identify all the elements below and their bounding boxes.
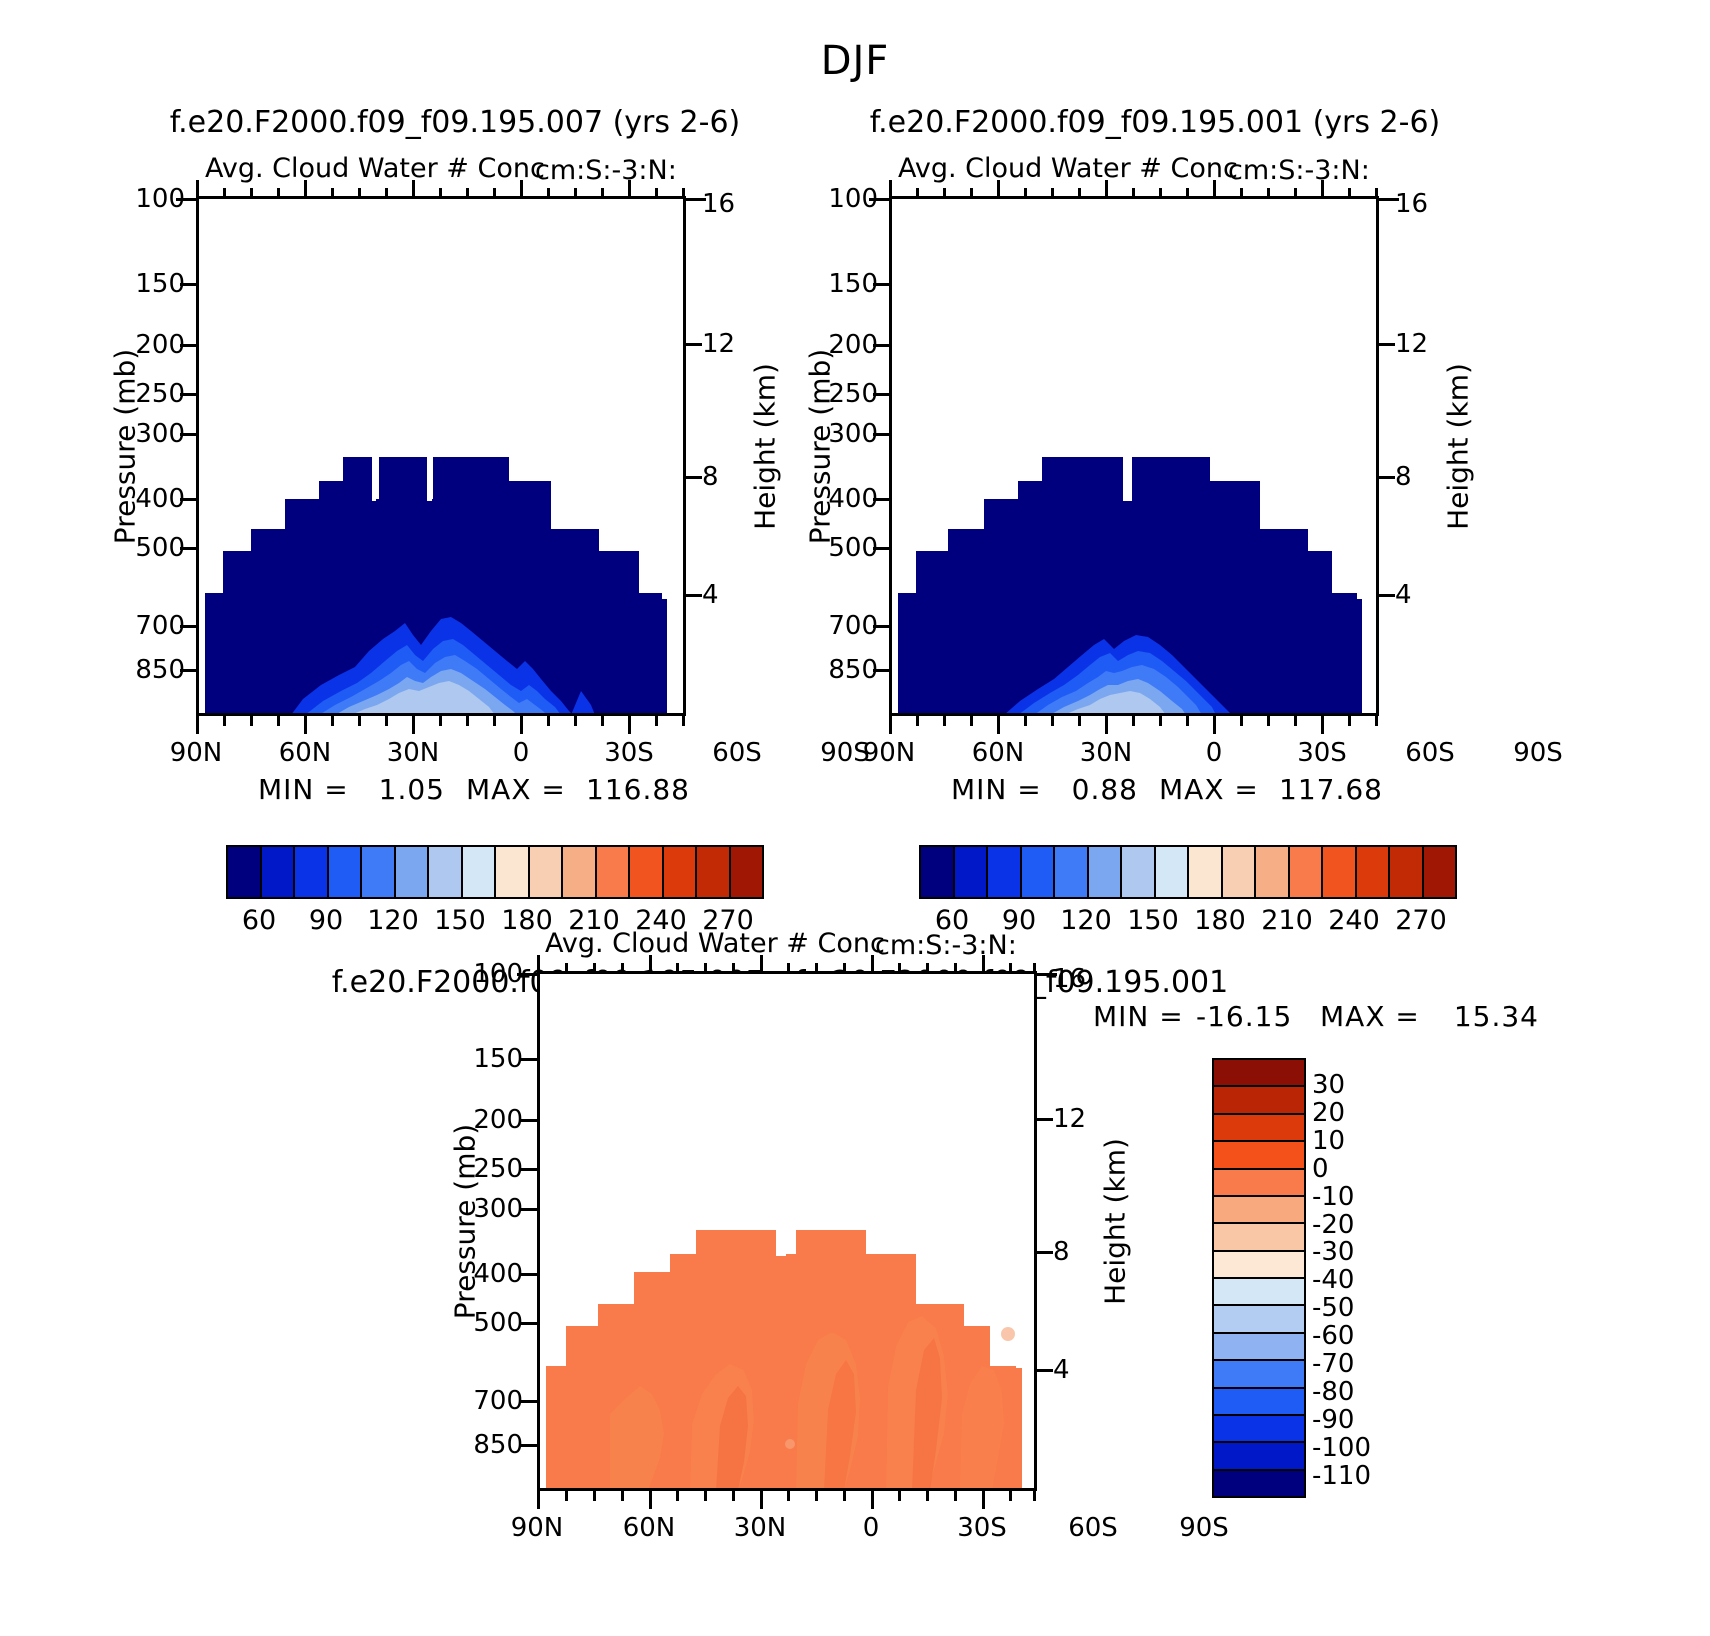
colorbar-swatch-0	[228, 847, 262, 897]
panel-bottom-diff-xtick-top-m4	[676, 963, 679, 973]
panel-top-left-xtick-90N: 90N	[156, 738, 236, 768]
panel-bottom-diff-y2tick-mark-16	[1037, 973, 1057, 976]
panel-top-left-ytick-400: 400	[105, 484, 185, 514]
panel-top-left-plot-area	[196, 196, 686, 716]
panel-top-right-y2tick-12: 12	[1395, 329, 1428, 359]
vcbtick-m10: -10	[1312, 1182, 1354, 1212]
panel-bottom-diff-xtick-top-m9	[843, 963, 846, 973]
cbtick-r-150: 150	[1127, 905, 1179, 936]
panel-top-left-ytick-300: 300	[105, 419, 185, 449]
panel-top-right-xtick-top-1	[997, 180, 1000, 198]
panel-top-left-min-label: MIN =	[258, 773, 349, 806]
panel-bottom-diff-y2tick-8: 8	[1053, 1237, 1070, 1267]
panel-top-left-xtick-top-m13	[655, 188, 658, 198]
panel-top-right-y2tick-16: 16	[1395, 189, 1428, 219]
panel-top-right-max-value: 117.68	[1263, 773, 1383, 806]
panel-top-right-xtick-30S: 30S	[1282, 738, 1362, 768]
panel-top-right-xtick-top-m7	[1132, 188, 1135, 198]
panel-bottom-diff-xtick-bot-m13	[1009, 1491, 1012, 1501]
panel-top-left-xtick-0: 0	[481, 738, 561, 768]
panel-top-left-xtick-bot-m6	[385, 716, 388, 726]
panel-top-left-max-label: MAX =	[466, 773, 566, 806]
panel-top-right-xtick-90N: 90N	[849, 738, 929, 768]
panel-bottom-diff-xtick-bot-m10	[898, 1491, 901, 1501]
panel-top-left-xtick-bot-m14	[682, 716, 685, 726]
cbtick-120: 120	[367, 905, 419, 936]
panel-top-left-ytick-500: 500	[105, 533, 185, 563]
panel-bottom-diff-xtick-top-m2	[593, 963, 596, 973]
panel-bottom-diff-xtick-bot-m3	[621, 1491, 624, 1501]
panel-top-right-ytick-mark-200	[873, 344, 889, 347]
panel-top-right-y2tick-mark-12	[1379, 343, 1395, 346]
panel-bottom-diff-colorbar-ticks: 30 20 10 0 -10 -20 -30 -40 -50 -60 -70 -…	[1312, 1058, 1432, 1494]
panel-top-left-xtick-top-m4	[331, 188, 334, 198]
panel-bottom-diff-y2tick-mark-4	[1037, 1369, 1053, 1372]
panel-top-left-xtick-bot-1	[304, 716, 307, 734]
panel-top-left-xtick-bot-m3	[277, 716, 280, 726]
colorbar-swatch-15	[1424, 847, 1456, 897]
panel-top-left-xtick-bot-m8	[466, 716, 469, 726]
panel-top-right-xtick-top-m10	[1240, 188, 1243, 198]
vcbtick-m30: -30	[1312, 1237, 1354, 1267]
panel-top-left-ytick-100: 100	[105, 184, 185, 214]
panel-top-left-y2tick-4: 4	[702, 580, 719, 610]
panel-bottom-diff-xtick-bot-m9	[843, 1491, 846, 1501]
panel-top-right-min-label: MIN =	[951, 773, 1042, 806]
diff-colorbar-swatch-7	[1214, 1252, 1304, 1279]
panel-top-left-xtick-60S: 60S	[697, 738, 777, 768]
panel-top-right-ytick-mark-250	[873, 393, 889, 396]
panel-top-right-xtick-bot-m8	[1159, 716, 1162, 726]
panel-bottom-diff-ytick-200: 200	[443, 1105, 523, 1135]
panel-top-left-xtick-bot-m7	[439, 716, 442, 726]
vcbtick-m20: -20	[1312, 1210, 1354, 1240]
colorbar-swatch-3	[1022, 847, 1056, 897]
panel-bottom-diff-xtick-top-0	[537, 955, 540, 973]
panel-top-right-xtick-90S: 90S	[1498, 738, 1578, 768]
colorbar-swatch-8	[1189, 847, 1223, 897]
panel-top-left-ytick-mark-500	[180, 547, 196, 550]
panel-bottom-diff-ytick-700: 700	[443, 1386, 523, 1416]
panel-top-right-xtick-60N: 60N	[958, 738, 1038, 768]
colorbar-swatch-14	[697, 847, 731, 897]
panel-top-right-y2tick-mark-4	[1379, 594, 1395, 597]
panel-bottom-diff-contour	[540, 974, 1036, 1490]
panel-bottom-diff-ytick-400: 400	[443, 1259, 523, 1289]
colorbar-swatch-4	[1055, 847, 1089, 897]
panel-bottom-diff-ytick-mark-700	[521, 1400, 537, 1403]
vcbtick-30: 30	[1312, 1070, 1345, 1100]
colorbar-swatch-0	[921, 847, 955, 897]
colorbar-swatch-12	[630, 847, 664, 897]
colorbar-swatch-6	[429, 847, 463, 897]
panel-top-left-xtick-30S: 30S	[589, 738, 669, 768]
panel-top-right-xtick-top-m4	[1024, 188, 1027, 198]
cbtick-r-210: 210	[1261, 905, 1313, 936]
panel-top-left-xtick-top-m12	[601, 188, 604, 198]
cbtick-r-120: 120	[1060, 905, 1112, 936]
panel-bottom-diff-ytick-500: 500	[443, 1308, 523, 1338]
colorbar-swatch-2	[295, 847, 329, 897]
panel-top-right-xtick-bot-m7	[1132, 716, 1135, 726]
diff-colorbar-swatch-9	[1214, 1306, 1304, 1333]
cbtick-r-240: 240	[1328, 905, 1380, 936]
panel-top-left-xtick-top-3	[520, 180, 523, 198]
panel-top-left-xtick-top-0	[196, 180, 199, 198]
diff-colorbar-swatch-14	[1214, 1443, 1304, 1470]
panel-top-right-ytick-mark-850	[873, 669, 889, 672]
panel-bottom-diff-xtick-bot-4	[982, 1491, 985, 1509]
diff-colorbar-swatch-13	[1214, 1416, 1304, 1443]
vcbtick-m110: -110	[1312, 1461, 1371, 1491]
panel-top-right-xtick-top-m6	[1078, 188, 1081, 198]
panel-top-right-ytick-850: 850	[798, 655, 878, 685]
colorbar-swatch-2	[988, 847, 1022, 897]
colorbar-swatch-9	[1223, 847, 1257, 897]
panel-top-right-xtick-bot-m11	[1267, 716, 1270, 726]
diff-colorbar-swatch-11	[1214, 1361, 1304, 1388]
panel-bottom-diff-units-overlay: cm:S:-3:N:	[875, 930, 1017, 961]
panel-top-right-ytick-400: 400	[798, 484, 878, 514]
panel-bottom-diff-xtick-90S: 90S	[1164, 1513, 1244, 1543]
diff-colorbar-swatch-15	[1214, 1471, 1304, 1496]
colorbar-swatch-13	[664, 847, 698, 897]
cbtick-60: 60	[242, 905, 276, 936]
panel-top-left-xtick-top-m8	[466, 188, 469, 198]
panel-bottom-diff-plot-area	[537, 971, 1037, 1491]
diff-colorbar-swatch-6	[1214, 1224, 1304, 1251]
colorbar-swatch-5	[396, 847, 430, 897]
panel-top-left-y2tick-8: 8	[702, 462, 719, 492]
panel-top-left-ytick-mark-150	[180, 283, 196, 286]
panel-top-right-case-title: f.e20.F2000.f09_f09.195.001 (yrs 2-6)	[745, 105, 1565, 140]
panel-bottom-diff-ytick-300: 300	[443, 1194, 523, 1224]
panel-top-right-xtick-top-m11	[1267, 188, 1270, 198]
panel-top-left-xtick-bot-m1	[223, 716, 226, 726]
panel-top-left-xtick-30N: 30N	[373, 738, 453, 768]
panel-bottom-diff-min-value: -16.15	[1196, 1000, 1292, 1033]
panel-top-left-ytick-mark-200	[180, 344, 196, 347]
panel-top-left-xtick-bot-m4	[331, 716, 334, 726]
panel-top-right-xtick-bot-m12	[1294, 716, 1297, 726]
panel-top-right-ytick-100: 100	[798, 184, 878, 214]
panel-bottom-diff-xtick-top-1	[649, 955, 652, 973]
panel-top-right-plot-area	[889, 196, 1379, 716]
panel-bottom-diff-y2axis-label: Height (km)	[1099, 1092, 1132, 1352]
panel-top-right-ytick-mark-100	[869, 198, 889, 201]
diff-colorbar-swatch-3	[1214, 1142, 1304, 1169]
colorbar-swatch-11	[597, 847, 631, 897]
panel-top-left-y2tick-16: 16	[702, 189, 735, 219]
panel-bottom-diff-xtick-bot-m14	[1033, 1491, 1036, 1501]
panel-top-right-ytick-200: 200	[798, 330, 878, 360]
panel-top-left-xtick-top-m3	[277, 188, 280, 198]
panel-bottom-diff-colorbar[interactable]	[1212, 1058, 1306, 1498]
panel-bottom-diff-max-value: 15.34	[1424, 1000, 1539, 1033]
colorbar-swatch-1	[955, 847, 989, 897]
panel-bottom-diff-xtick-bot-m6	[732, 1491, 735, 1501]
panel-top-left-xtick-top-m10	[547, 188, 550, 198]
panel-top-right-y2tick-4: 4	[1395, 580, 1412, 610]
colorbar-swatch-9	[530, 847, 564, 897]
panel-bottom-diff-xtick-top-m13	[1009, 963, 1012, 973]
panel-top-right-xtick-0: 0	[1174, 738, 1254, 768]
colorbar-swatch-4	[362, 847, 396, 897]
panel-bottom-diff-xtick-bot-m8	[815, 1491, 818, 1501]
cbtick-r-180: 180	[1194, 905, 1246, 936]
panel-top-right-xtick-top-4	[1321, 180, 1324, 198]
panel-bottom-diff-ytick-mark-500	[521, 1322, 537, 1325]
colorbar-swatch-7	[1156, 847, 1190, 897]
panel-top-right-y2tick-mark-8	[1379, 476, 1395, 479]
diff-colorbar-swatch-5	[1214, 1197, 1304, 1224]
panel-top-left-xtick-top-m1	[223, 188, 226, 198]
panel-top-left-y2tick-mark-8	[686, 476, 702, 479]
panel-bottom-diff-y2tick-16: 16	[1053, 964, 1086, 994]
panel-top-right-xtick-top-m3	[970, 188, 973, 198]
panel-top-right-xtick-bot-m5	[1051, 716, 1054, 726]
panel-bottom-diff-xtick-top-m3	[621, 963, 624, 973]
panel-bottom-diff-xtick-top-m11	[926, 963, 929, 973]
panel-top-left-xtick-top-1	[304, 180, 307, 198]
panel-bottom-diff-xtick-60S: 60S	[1053, 1513, 1133, 1543]
panel-bottom-diff-ytick-mark-300	[521, 1208, 537, 1211]
colorbar-swatch-3	[329, 847, 363, 897]
panel-top-left-ytick-mark-300	[180, 433, 196, 436]
panel-bottom-diff-xtick-30S: 30S	[942, 1513, 1022, 1543]
panel-top-right-max-label: MAX =	[1159, 773, 1259, 806]
panel-top-right-xtick-top-m2	[943, 188, 946, 198]
diff-colorbar-swatch-0	[1214, 1060, 1304, 1087]
diff-colorbar-swatch-8	[1214, 1279, 1304, 1306]
panel-top-right-xtick-top-m9	[1186, 188, 1189, 198]
panel-bottom-diff-xtick-bot-m12	[954, 1491, 957, 1501]
colorbar-swatch-12	[1323, 847, 1357, 897]
panel-bottom-diff-xtick-90N: 90N	[497, 1513, 577, 1543]
panel-bottom-diff-ytick-850: 850	[443, 1430, 523, 1460]
panel-top-right-xtick-bot-1	[997, 716, 1000, 734]
panel-bottom-diff-ytick-mark-200	[521, 1119, 537, 1122]
panel-bottom-diff-xtick-bot-m5	[704, 1491, 707, 1501]
panel-top-left-contour	[199, 199, 685, 715]
panel-top-left-xtick-top-m5	[358, 188, 361, 198]
panel-top-right-xtick-top-2	[1105, 180, 1108, 198]
panel-bottom-diff-xtick-bot-m7	[787, 1491, 790, 1501]
diff-colorbar-swatch-1	[1214, 1087, 1304, 1114]
panel-top-right-xtick-bot-0	[889, 716, 892, 734]
panel-top-left-xtick-bot-0	[196, 716, 199, 734]
panel-top-right-xtick-bot-m13	[1348, 716, 1351, 726]
diff-colorbar-swatch-10	[1214, 1334, 1304, 1361]
panel-top-right-min-value: 0.88	[1048, 773, 1138, 806]
panel-top-right-y2axis-label: Height (km)	[1442, 317, 1475, 577]
panel-top-right-ytick-mark-500	[873, 547, 889, 550]
panel-top-left-xtick-bot-2	[412, 716, 415, 734]
vcbtick-m80: -80	[1312, 1377, 1354, 1407]
panel-top-right-xtick-top-m1	[916, 188, 919, 198]
panel-top-left-xtick-top-m2	[250, 188, 253, 198]
vcbtick-0: 0	[1312, 1154, 1329, 1184]
panel-top-right-contour	[892, 199, 1378, 715]
panel-top-right-xtick-bot-m4	[1024, 716, 1027, 726]
panel-top-right-ytick-mark-150	[873, 283, 889, 286]
panel-bottom-diff-ytick-mark-850	[521, 1444, 537, 1447]
panel-top-right-xtick-30N: 30N	[1066, 738, 1146, 768]
diff-colorbar-swatch-12	[1214, 1389, 1304, 1416]
panel-top-left-ytick-mark-850	[180, 669, 196, 672]
colorbar-swatch-5	[1089, 847, 1123, 897]
panel-bottom-diff-subtitle: Avg. Cloud Water # Conc	[545, 928, 885, 959]
panel-bottom-diff-y2tick-mark-8	[1037, 1251, 1053, 1254]
panel-top-right-ytick-300: 300	[798, 419, 878, 449]
panel-bottom-diff-y2tick-mark-12	[1037, 1118, 1053, 1121]
panel-bottom-diff-max-label: MAX =	[1320, 1000, 1420, 1033]
vcbtick-m40: -40	[1312, 1265, 1354, 1295]
panel-top-left-y2tick-mark-4	[686, 594, 702, 597]
panel-top-left-max-value: 116.88	[570, 773, 690, 806]
colorbar-swatch-10	[1256, 847, 1290, 897]
panel-top-left-case-title: f.e20.F2000.f09_f09.195.007 (yrs 2-6)	[45, 105, 865, 140]
panel-bottom-diff-xtick-bot-1	[649, 1491, 652, 1509]
colorbar-swatch-6	[1122, 847, 1156, 897]
panel-top-right-xtick-bot-m3	[970, 716, 973, 726]
panel-top-left-xtick-top-2	[412, 180, 415, 198]
panel-top-left-y2tick-mark-16	[686, 198, 706, 201]
vcbtick-m60: -60	[1312, 1321, 1354, 1351]
panel-top-left-xtick-top-m6	[385, 188, 388, 198]
panel-top-right-xtick-bot-m6	[1078, 716, 1081, 726]
panel-top-left-xtick-bot-m10	[547, 716, 550, 726]
panel-top-right-ytick-mark-300	[873, 433, 889, 436]
panel-top-right-xtick-top-m12	[1294, 188, 1297, 198]
colorbar-swatch-1	[262, 847, 296, 897]
panel-bottom-diff-xtick-top-4	[982, 955, 985, 973]
panel-bottom-diff-xtick-0: 0	[831, 1513, 911, 1543]
panel-top-left-xtick-bot-m13	[655, 716, 658, 726]
vcbtick-m70: -70	[1312, 1349, 1354, 1379]
panel-bottom-diff-xtick-60N: 60N	[609, 1513, 689, 1543]
colorbar-swatch-8	[496, 847, 530, 897]
panel-top-right-ytick-mark-700	[873, 625, 889, 628]
panel-top-right-xtick-bot-2	[1105, 716, 1108, 734]
panel-top-right-ytick-mark-400	[873, 498, 889, 501]
panel-top-right-xtick-top-m5	[1051, 188, 1054, 198]
vcbtick-m100: -100	[1312, 1433, 1371, 1463]
panel-top-left-ytick-250: 250	[105, 379, 185, 409]
panel-bottom-diff-xtick-bot-3	[871, 1491, 874, 1509]
panel-top-left-xtick-bot-m11	[574, 716, 577, 726]
panel-top-left-y2tick-mark-12	[686, 343, 702, 346]
colorbar-swatch-10	[563, 847, 597, 897]
panel-bottom-diff-xtick-top-m1	[565, 963, 568, 973]
panel-top-right-xtick-top-m8	[1159, 188, 1162, 198]
panel-top-left-ytick-mark-400	[180, 498, 196, 501]
panel-top-left-xtick-top-m14	[682, 188, 685, 198]
panel-bottom-diff-xtick-top-3	[871, 955, 874, 973]
cbtick-r-270: 270	[1395, 905, 1447, 936]
panel-bottom-diff-xtick-bot-m1	[565, 1491, 568, 1501]
panel-top-right-xtick-60S: 60S	[1390, 738, 1470, 768]
panel-top-right-xtick-top-m13	[1348, 188, 1351, 198]
cbtick-150: 150	[434, 905, 486, 936]
panel-top-left-xtick-top-m7	[439, 188, 442, 198]
panel-bottom-diff-ytick-mark-100	[517, 973, 537, 976]
panel-bottom-diff-xtick-bot-0	[537, 1491, 540, 1509]
panel-top-left-xtick-top-4	[628, 180, 631, 198]
panel-bottom-diff-xtick-top-m12	[954, 963, 957, 973]
diff-colorbar-swatch-4	[1214, 1170, 1304, 1197]
panel-top-left-ytick-mark-100	[176, 198, 196, 201]
panel-top-left-ytick-200: 200	[105, 330, 185, 360]
panel-bottom-diff-xtick-top-m7	[787, 963, 790, 973]
panel-top-right-xtick-bot-m2	[943, 716, 946, 726]
panel-top-left-xtick-bot-m9	[493, 716, 496, 726]
panel-top-left-min-value: 1.05	[355, 773, 445, 806]
panel-top-right-y2tick-8: 8	[1395, 462, 1412, 492]
panel-bottom-diff-ytick-mark-250	[521, 1168, 537, 1171]
panel-bottom-diff-ytick-100: 100	[443, 959, 523, 989]
panel-top-left-colorbar[interactable]	[226, 845, 764, 899]
panel-top-right-xtick-bot-m9	[1186, 716, 1189, 726]
panel-bottom-diff-xtick-top-m5	[704, 963, 707, 973]
colorbar-swatch-11	[1290, 847, 1324, 897]
panel-bottom-diff-xtick-top-m14	[1033, 963, 1036, 973]
panel-top-right-ytick-500: 500	[798, 533, 878, 563]
panel-top-left-ytick-850: 850	[105, 655, 185, 685]
panel-bottom-diff-xtick-top-2	[760, 955, 763, 973]
vcbtick-20: 20	[1312, 1098, 1345, 1128]
panel-top-left-ytick-mark-250	[180, 393, 196, 396]
panel-top-right-units-overlay: cm:S:-3:N:	[1228, 155, 1370, 186]
vcbtick-m90: -90	[1312, 1405, 1354, 1435]
vcbtick-10: 10	[1312, 1126, 1345, 1156]
colorbar-swatch-15	[731, 847, 763, 897]
panel-top-left-y2axis-label: Height (km)	[749, 317, 782, 577]
panel-top-left-xtick-60N: 60N	[265, 738, 345, 768]
panel-top-left-xtick-bot-3	[520, 716, 523, 734]
panel-top-right-xtick-bot-m14	[1375, 716, 1378, 726]
panel-top-right-colorbar[interactable]	[919, 845, 1457, 899]
panel-top-left-units-overlay: cm:S:-3:N:	[535, 155, 677, 186]
panel-top-left-xtick-bot-m12	[601, 716, 604, 726]
panel-bottom-diff-xtick-top-m6	[732, 963, 735, 973]
panel-top-left-ytick-700: 700	[105, 611, 185, 641]
panel-bottom-diff-xtick-30N: 30N	[720, 1513, 800, 1543]
diff-colorbar-swatch-2	[1214, 1115, 1304, 1142]
panel-bottom-diff-ytick-mark-150	[521, 1058, 537, 1061]
panel-top-right-ytick-150: 150	[798, 269, 878, 299]
panel-bottom-diff-xtick-top-m10	[898, 963, 901, 973]
panel-top-right-xtick-bot-m10	[1240, 716, 1243, 726]
panel-bottom-diff-xtick-bot-m2	[593, 1491, 596, 1501]
panel-top-right-xtick-top-0	[889, 180, 892, 198]
colorbar-swatch-7	[463, 847, 497, 897]
panel-bottom-diff-ytick-150: 150	[443, 1044, 523, 1074]
panel-top-left-xtick-top-m11	[574, 188, 577, 198]
figure-season-title: DJF	[0, 38, 1710, 84]
panel-bottom-diff-xtick-top-m8	[815, 963, 818, 973]
panel-top-right-y2tick-mark-16	[1379, 198, 1399, 201]
panel-top-left-xtick-bot-m2	[250, 716, 253, 726]
panel-bottom-diff-min-label: MIN =	[1093, 1000, 1184, 1033]
panel-top-left-y2tick-12: 12	[702, 329, 735, 359]
panel-top-right-xtick-top-3	[1213, 180, 1216, 198]
panel-top-left-xtick-bot-m5	[358, 716, 361, 726]
panel-top-left-subtitle: Avg. Cloud Water # Conc	[205, 153, 545, 184]
panel-bottom-diff-xtick-bot-m4	[676, 1491, 679, 1501]
colorbar-swatch-13	[1357, 847, 1391, 897]
panel-bottom-diff-ytick-250: 250	[443, 1154, 523, 1184]
